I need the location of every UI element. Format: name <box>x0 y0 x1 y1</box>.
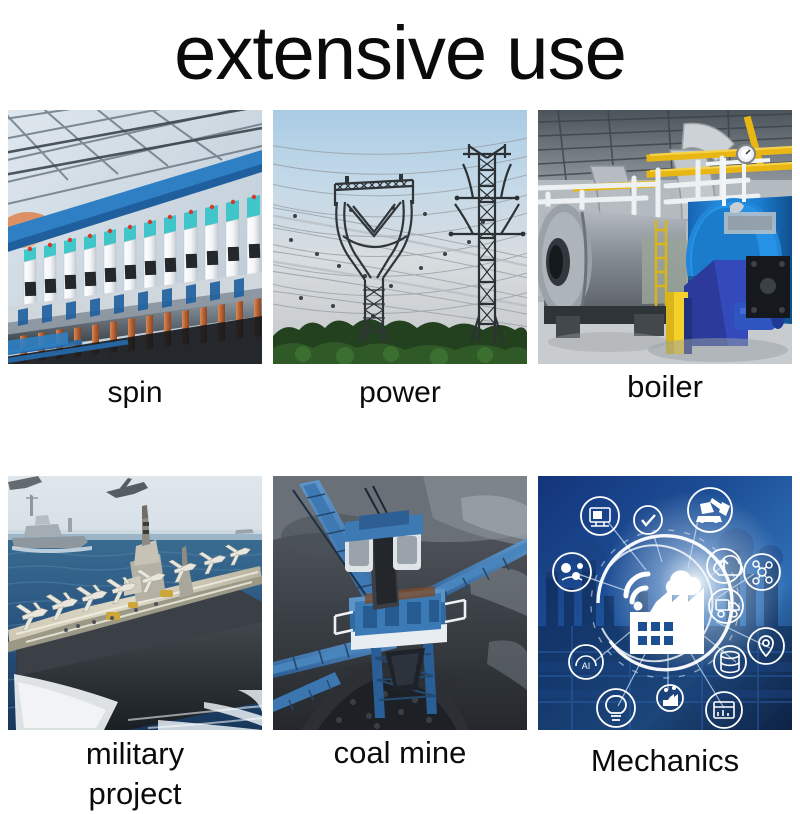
gallery-item-spin[interactable]: spin <box>8 110 262 412</box>
textile-spinning-machine-photo <box>8 110 262 364</box>
extensive-use-gallery-page: extensive use <box>0 0 800 800</box>
gallery-item-label-power: power <box>273 374 527 412</box>
military-project-tile[interactable] <box>8 476 262 730</box>
boiler-tile[interactable] <box>538 110 792 364</box>
coal-mine-conveyor-photo <box>273 476 527 730</box>
electricity-pylon-photo <box>273 110 527 364</box>
image-grid-row: military project <box>8 476 792 814</box>
image-grid: spin <box>8 110 792 814</box>
page-title: extensive use <box>0 8 800 100</box>
gallery-item-mechanics[interactable]: AI <box>538 476 792 814</box>
industrial-boiler-room-photo <box>538 110 792 364</box>
gallery-item-power[interactable]: power <box>273 110 527 412</box>
gallery-item-label-mechanics: Mechanics <box>538 742 792 780</box>
svg-text:AI: AI <box>582 661 591 671</box>
gallery-item-label-spin: spin <box>8 374 262 412</box>
gallery-item-coal-mine[interactable]: coal mine <box>273 476 527 814</box>
gallery-item-military-project[interactable]: military project <box>8 476 262 814</box>
image-grid-row: spin <box>8 110 792 412</box>
aircraft-carrier-photo <box>8 476 262 730</box>
coal-mine-tile[interactable] <box>273 476 527 730</box>
gallery-item-label-boiler: boiler <box>538 368 792 406</box>
gallery-item-label-military-project: military project <box>8 734 262 814</box>
gallery-item-label-coal-mine: coal mine <box>273 734 527 772</box>
power-tile[interactable] <box>273 110 527 364</box>
industry-iot-concept-photo: AI <box>538 476 792 730</box>
spin-tile[interactable] <box>8 110 262 364</box>
gallery-item-boiler[interactable]: boiler <box>538 110 792 412</box>
mechanics-tile[interactable]: AI <box>538 476 792 730</box>
